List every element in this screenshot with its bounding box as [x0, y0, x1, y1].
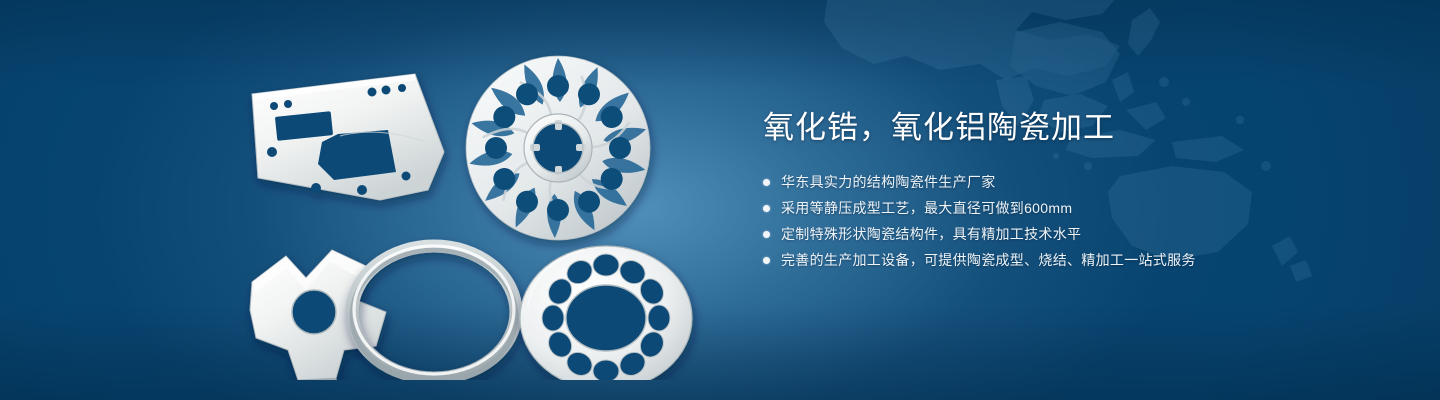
bullet-dot-icon: [763, 179, 770, 186]
bullet-dot-icon: [763, 257, 770, 264]
feature-text: 采用等静压成型工艺，最大直径可做到600mm: [781, 196, 1072, 221]
feature-text: 定制特殊形状陶瓷结构件，具有精加工技术水平: [781, 222, 1081, 247]
ceramic-plate-image: [252, 74, 444, 200]
list-item: 采用等静压成型工艺，最大直径可做到600mm: [763, 196, 1383, 221]
bullet-dot-icon: [763, 231, 770, 238]
feature-list: 华东具实力的结构陶瓷件生产厂家 采用等静压成型工艺，最大直径可做到600mm 定…: [763, 170, 1383, 273]
promo-banner: 氧化锆，氧化铝陶瓷加工 华东具实力的结构陶瓷件生产厂家 采用等静压成型工艺，最大…: [0, 0, 1440, 400]
feature-text: 完善的生产加工设备，可提供陶瓷成型、烧结、精加工一站式服务: [781, 248, 1196, 273]
feature-text: 华东具实力的结构陶瓷件生产厂家: [781, 170, 996, 195]
list-item: 完善的生产加工设备，可提供陶瓷成型、烧结、精加工一站式服务: [763, 248, 1383, 273]
list-item: 华东具实力的结构陶瓷件生产厂家: [763, 170, 1383, 195]
bullet-dot-icon: [763, 205, 770, 212]
list-item: 定制特殊形状陶瓷结构件，具有精加工技术水平: [763, 222, 1383, 247]
product-photo-group: [230, 30, 720, 380]
ceramic-impeller-image: [466, 56, 650, 240]
banner-copy: 氧化锆，氧化铝陶瓷加工 华东具实力的结构陶瓷件生产厂家 采用等静压成型工艺，最大…: [763, 108, 1383, 274]
page-title: 氧化锆，氧化铝陶瓷加工: [763, 108, 1383, 148]
ceramic-flange-disc-image: [520, 246, 692, 380]
